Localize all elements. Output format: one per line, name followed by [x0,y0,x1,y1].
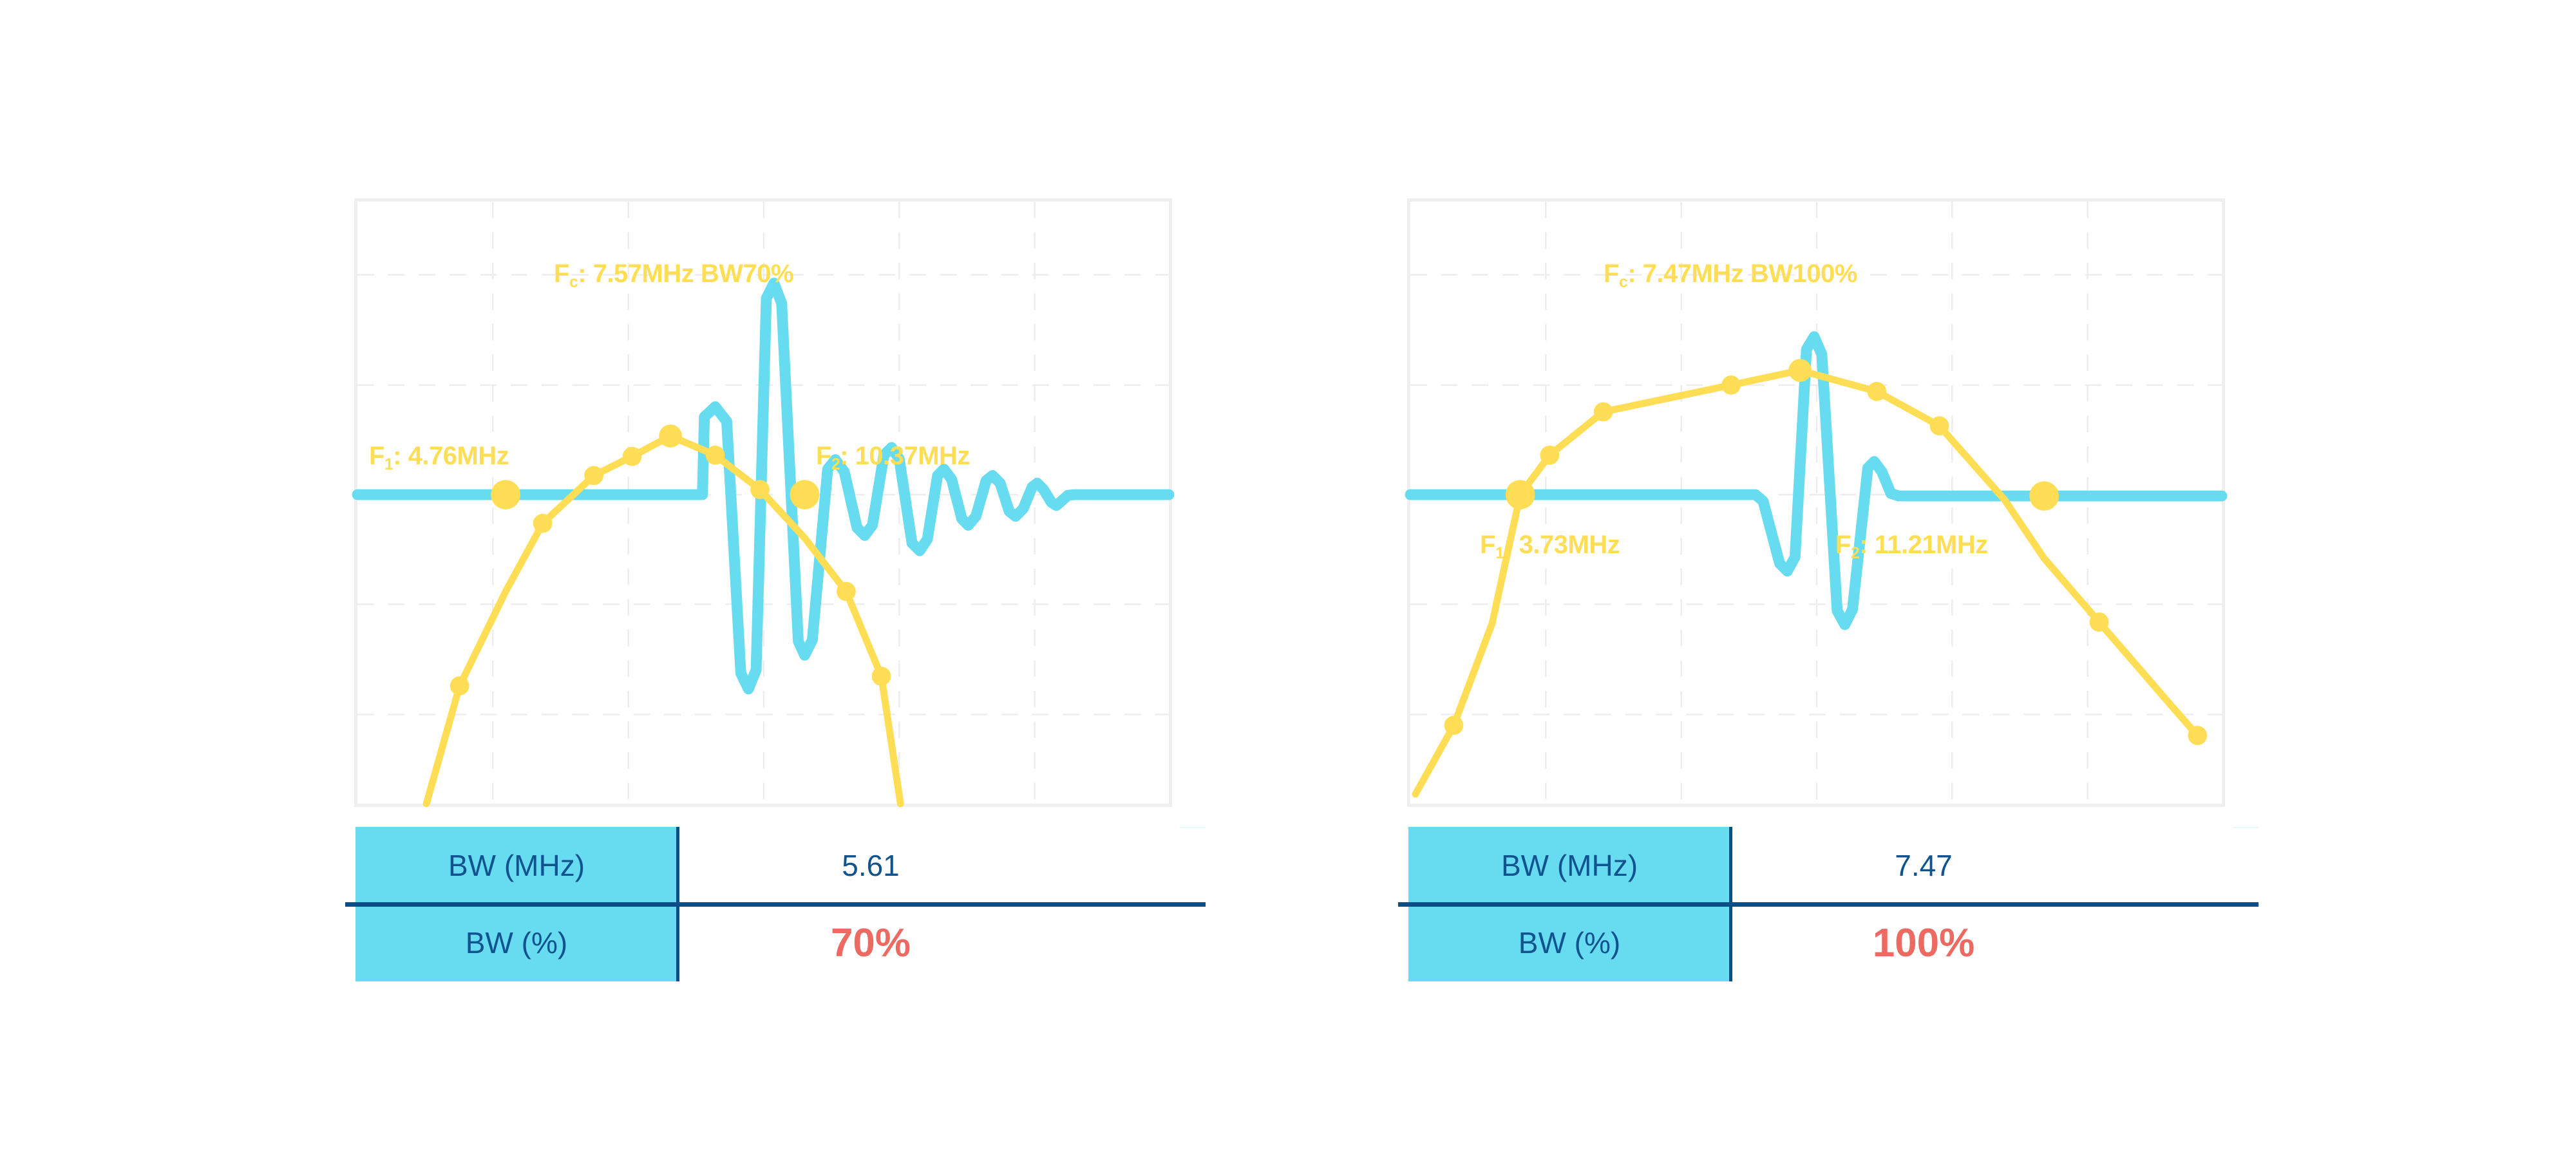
bw-pct-value-cell: 100% [1730,904,2233,981]
plot-box-left: Fc: 7.57MHz BW70% F1: 4.76MHz F2: 10.37M… [354,198,1172,807]
f1-label: F1: 3.73MHz [1480,532,1620,558]
f2-label: F2: 11.21MHz [1835,532,1988,558]
bw-mhz-header: BW (MHz) [355,827,677,904]
bw-mhz-value-cell: 7.47 [1730,827,2233,904]
table-row: BW (MHz) 7.47 [1408,827,2233,904]
figure-root: Fc: 7.57MHz BW70% F1: 4.76MHz F2: 10.37M… [0,0,2576,1154]
fc-label: Fc: 7.57MHz BW70% [554,261,793,287]
spectrum-plot-right [1410,202,2222,804]
table-row: BW (%) 70% [355,904,1180,981]
table-row: BW (%) 100% [1408,904,2233,981]
f2-crossing-marker [2029,481,2059,511]
bw-mhz-value-cell: 5.61 [677,827,1180,904]
f1-crossing-marker [491,480,520,509]
bw-table-right: BW (MHz) 7.47 BW (%) 100% [1408,827,2233,981]
bw-mhz-value: 5.61 [842,848,900,883]
panel-left: Fc: 7.57MHz BW70% F1: 4.76MHz F2: 10.37M… [251,0,1333,1154]
bw-table-left: BW (MHz) 5.61 BW (%) 70% [355,827,1180,981]
fc-label: Fc: 7.47MHz BW100% [1604,261,1857,287]
bw-pct-value-cell: 70% [677,904,1180,981]
table-row: BW (MHz) 5.61 [355,827,1180,904]
panel-right: Fc: 7.47MHz BW100% F1: 3.73MHz F2: 11.21… [1304,0,2386,1154]
bw-pct-header: BW (%) [1408,904,1730,981]
bw-pct-value: 70% [831,920,911,966]
f1-crossing-marker [1506,480,1535,509]
f2-label: F2: 10.37MHz [816,443,970,469]
f2-crossing-marker [790,480,820,509]
table-mid-rule [1398,902,2259,907]
table-mid-rule [345,902,1206,907]
plot-box-right: Fc: 7.47MHz BW100% F1: 3.73MHz F2: 11.21… [1407,198,2225,807]
f1-label: F1: 4.76MHz [369,443,509,469]
bw-mhz-header: BW (MHz) [1408,827,1730,904]
bw-pct-header: BW (%) [355,904,677,981]
bw-pct-value: 100% [1873,920,1975,966]
bw-mhz-value: 7.47 [1895,848,1953,883]
spectrum-plot-left [357,202,1169,804]
